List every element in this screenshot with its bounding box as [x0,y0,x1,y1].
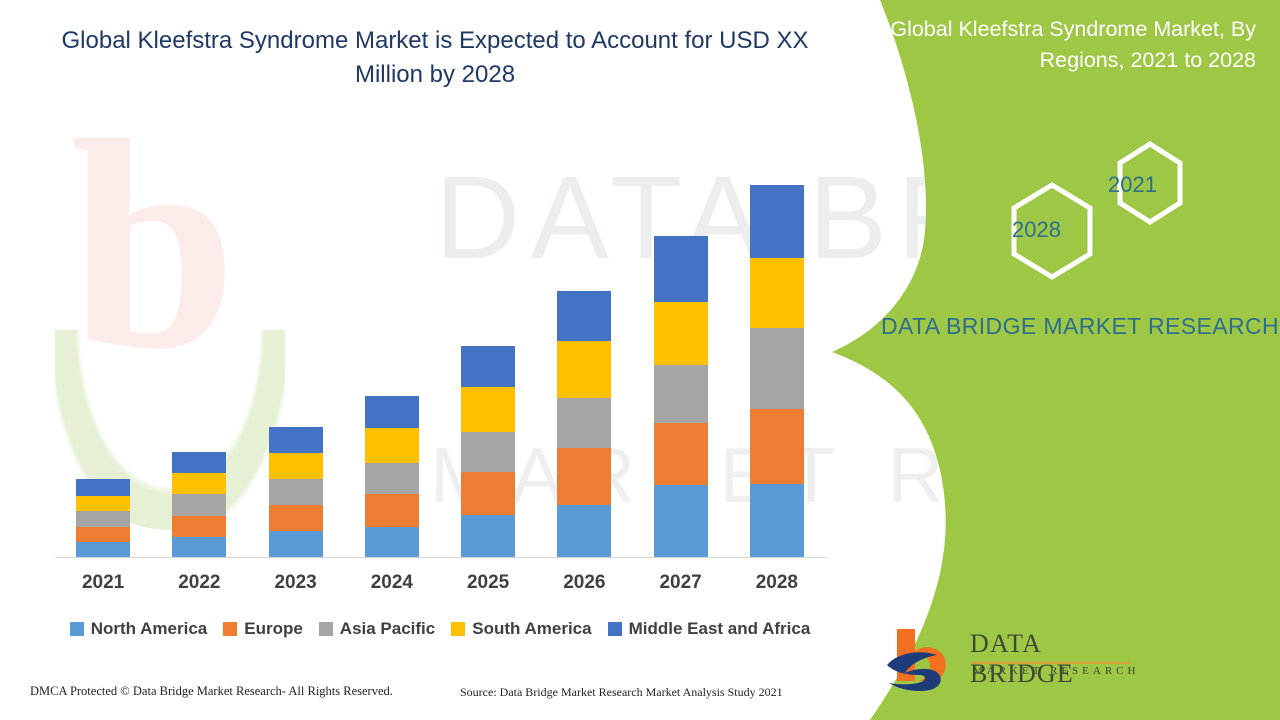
panel-title: Global Kleefstra Syndrome Market, By Reg… [856,14,1256,76]
legend-swatch-icon [608,622,622,636]
bar-column-2022 [151,170,247,557]
x-axis-label: 2023 [248,572,344,602]
bar-segment [461,432,515,472]
bar-segment [461,515,515,557]
bar-segment [461,346,515,387]
hexagon-group: 2021 2028 [990,140,1190,280]
bar-segment [461,472,515,515]
legend-label: South America [472,619,591,639]
bar-segment [76,527,130,542]
bar-segment [461,387,515,432]
x-axis-labels: 20212022202320242025202620272028 [55,572,825,602]
bar-segment [557,341,611,398]
green-panel-shape [820,0,1280,720]
bar-segment [269,427,323,453]
bar-segment [172,537,226,557]
bar-segment [365,527,419,557]
panel-brand-text: DATA BRIDGE MARKET RESEARCH [880,310,1280,342]
legend-item[interactable]: South America [451,619,591,639]
bar-segment [750,185,804,258]
bar-segment [750,484,804,557]
bar-segment [365,396,419,428]
chart-legend: North AmericaEuropeAsia PacificSouth Ame… [55,616,825,642]
legend-label: Asia Pacific [340,619,435,639]
bar-column-2028 [729,170,825,557]
bar-segment [750,409,804,484]
stacked-bar [269,427,323,557]
logo-subtitle: MARKET RESEARCH [973,665,1139,677]
bar-segment [172,452,226,473]
x-axis-label: 2024 [344,572,440,602]
legend-item[interactable]: North America [70,619,208,639]
bar-segment [654,302,708,365]
chart-area: Global Kleefstra Syndrome Market is Expe… [0,0,860,720]
stacked-bar [172,452,226,557]
x-axis-label: 2026 [536,572,632,602]
x-axis-line [55,557,827,558]
bar-segment [269,505,323,531]
stacked-bar [750,185,804,557]
stacked-bar [654,236,708,557]
bar-segment [557,398,611,448]
legend-label: North America [91,619,208,639]
bar-segment [269,453,323,479]
bar-segment [654,365,708,423]
legend-swatch-icon [319,622,333,636]
bar-segment [76,496,130,511]
green-side-panel [820,0,1280,720]
bar-segment [172,473,226,494]
bar-segment [557,505,611,557]
logo-title: DATA BRIDGE [970,629,1145,689]
hexagon-icons [990,140,1190,280]
stacked-bar [461,346,515,557]
bar-segment [365,494,419,527]
bar-segment [365,463,419,494]
bar-segment [654,485,708,557]
bar-segment [557,448,611,505]
stacked-bar [557,291,611,557]
x-axis-label: 2025 [440,572,536,602]
legend-swatch-icon [451,622,465,636]
bar-segment [557,291,611,341]
bar-segment [76,479,130,496]
hexagon-2028-label: 2028 [1012,217,1061,243]
footer-source: Source: Data Bridge Market Research Mark… [460,685,783,700]
logo-divider [971,662,1131,664]
stacked-bar-plot [55,170,825,557]
data-bridge-logo: DATA BRIDGE MARKET RESEARCH [885,625,1145,695]
bar-segment [654,236,708,302]
bar-column-2023 [248,170,344,557]
bar-column-2021 [55,170,151,557]
stacked-bar [76,479,130,557]
bar-segment [365,428,419,463]
x-axis-label: 2028 [729,572,825,602]
legend-swatch-icon [223,622,237,636]
bar-segment [76,542,130,557]
legend-item[interactable]: Middle East and Africa [608,619,811,639]
bar-column-2025 [440,170,536,557]
bar-segment [654,423,708,485]
footer: DMCA Protected © Data Bridge Market Rese… [0,684,860,708]
bar-segment [269,479,323,505]
hexagon-2021-label: 2021 [1108,172,1157,198]
legend-item[interactable]: Asia Pacific [319,619,435,639]
bar-segment [172,494,226,516]
legend-item[interactable]: Europe [223,619,303,639]
x-axis-label: 2027 [633,572,729,602]
bar-column-2024 [344,170,440,557]
legend-swatch-icon [70,622,84,636]
bar-segment [750,258,804,328]
stacked-bar [365,396,419,557]
chart-title: Global Kleefstra Syndrome Market is Expe… [40,24,830,92]
x-axis-label: 2022 [151,572,247,602]
bar-segment [172,516,226,537]
x-axis-label: 2021 [55,572,151,602]
bar-segment [269,531,323,557]
footer-copyright: DMCA Protected © Data Bridge Market Rese… [30,684,393,699]
legend-label: Europe [244,619,303,639]
bar-column-2027 [633,170,729,557]
bar-segment [750,328,804,409]
legend-label: Middle East and Africa [629,619,811,639]
bar-column-2026 [536,170,632,557]
infographic-page: b DATA BRIDGE MARKET RESEARCH Global Kle… [0,0,1280,720]
bar-segment [76,511,130,527]
logo-mark-icon [885,625,965,693]
